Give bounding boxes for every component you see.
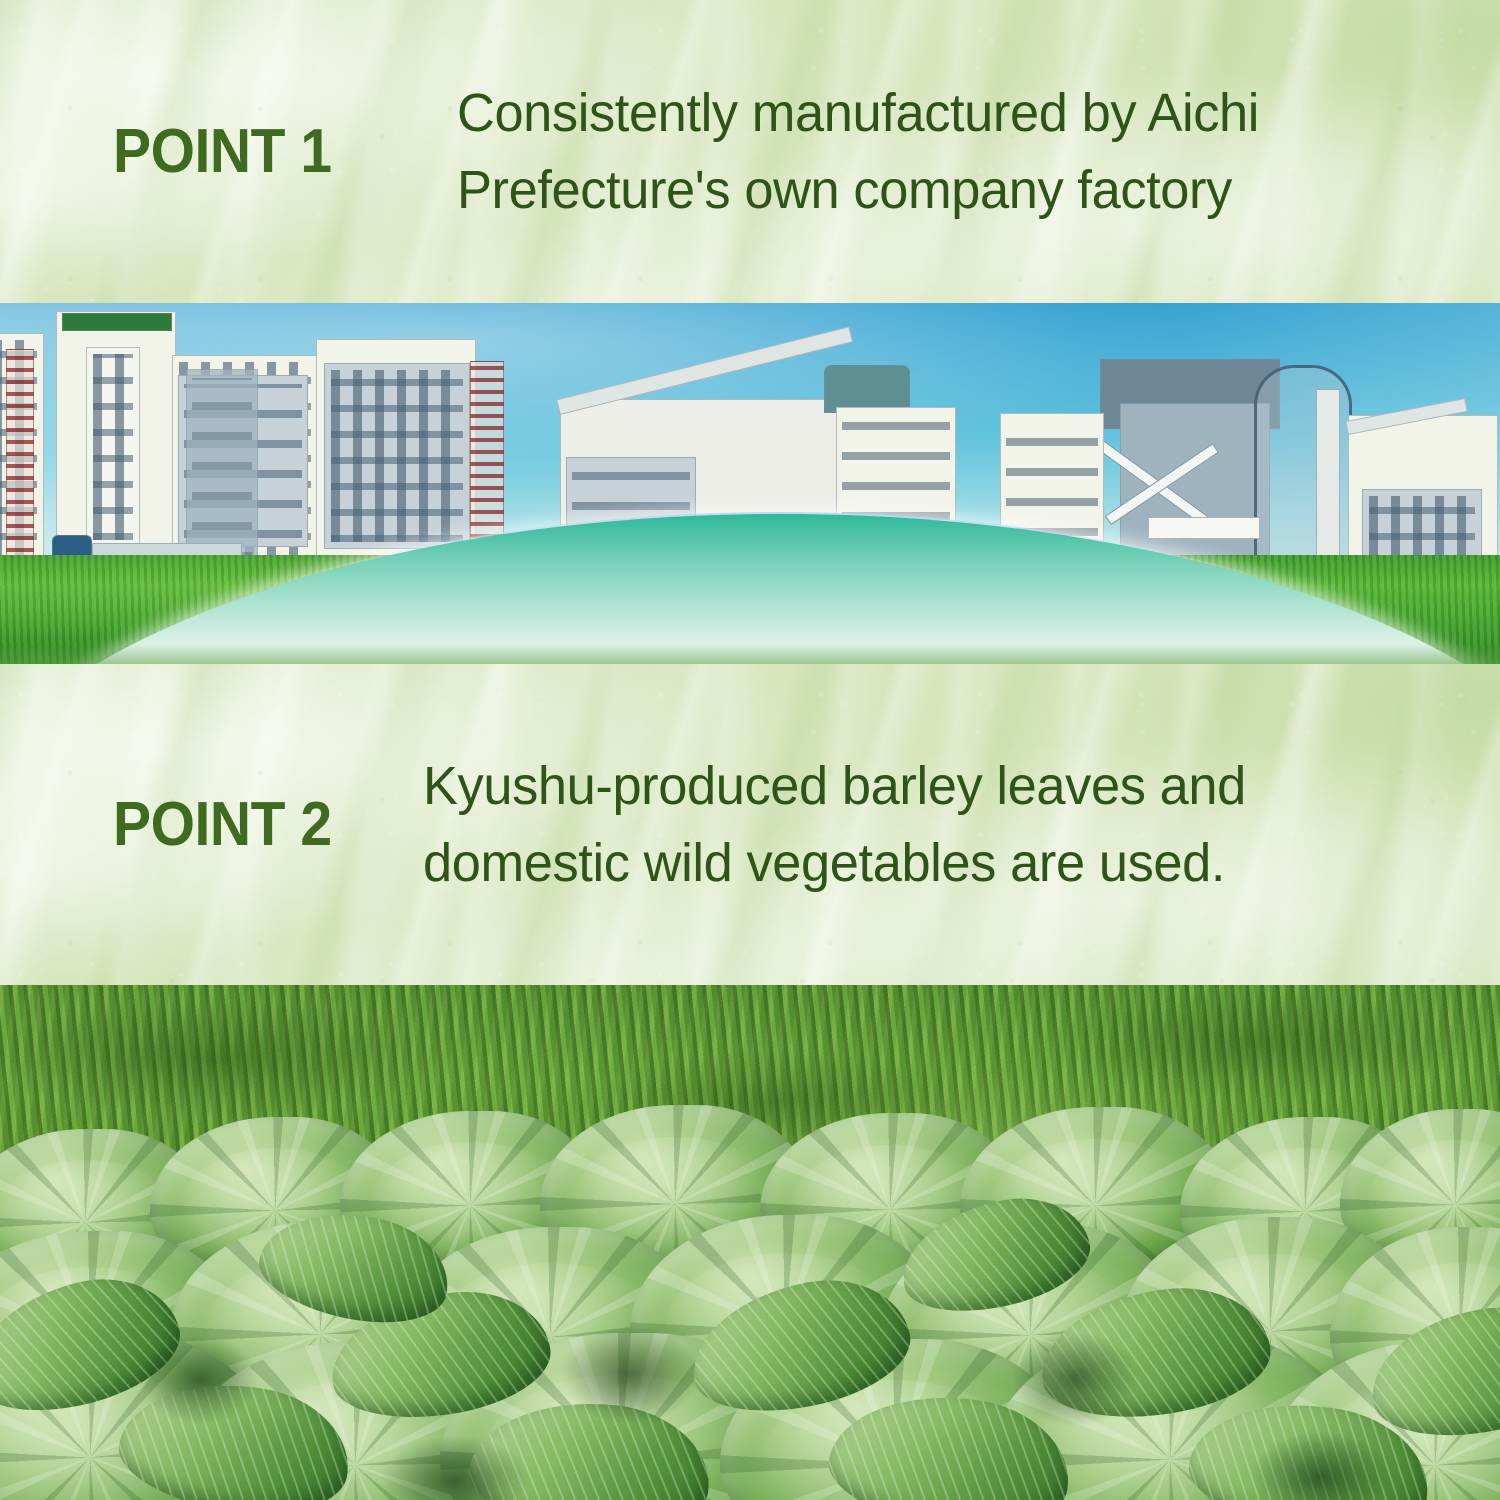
leaf-shadow bbox=[140, 1335, 260, 1425]
point-1-label: POINT 1 bbox=[113, 116, 332, 187]
plant-wall-sign bbox=[1148, 517, 1260, 539]
plant-chimney bbox=[1316, 389, 1340, 577]
building-center-left-windows bbox=[324, 363, 470, 549]
cabbage-field-photo bbox=[0, 985, 1500, 1500]
leaf-shadow bbox=[560, 1325, 700, 1425]
infographic-poster: POINT 1 Consistently manufactured by Aic… bbox=[0, 0, 1500, 1500]
cabbage-plants bbox=[0, 1135, 1500, 1500]
rooftop-unit bbox=[824, 365, 910, 413]
point-1-band: POINT 1 Consistently manufactured by Aic… bbox=[0, 0, 1500, 303]
point-2-description: Kyushu-produced barley leaves and domest… bbox=[423, 748, 1246, 901]
photo-bottom-grass-edge bbox=[0, 644, 1500, 664]
building-rooftop-sign bbox=[62, 313, 172, 331]
factory-photo bbox=[0, 303, 1500, 664]
building-blue-tint bbox=[186, 369, 258, 569]
left-tower-stairs bbox=[6, 349, 34, 577]
leaf-shadow bbox=[1010, 1331, 1140, 1427]
point-2-label: POINT 2 bbox=[113, 789, 332, 860]
point-1-description: Consistently manufactured by Aichi Prefe… bbox=[457, 75, 1259, 228]
point-2-band: POINT 2 Kyushu-produced barley leaves an… bbox=[0, 664, 1500, 985]
office-block-windows bbox=[86, 347, 140, 547]
